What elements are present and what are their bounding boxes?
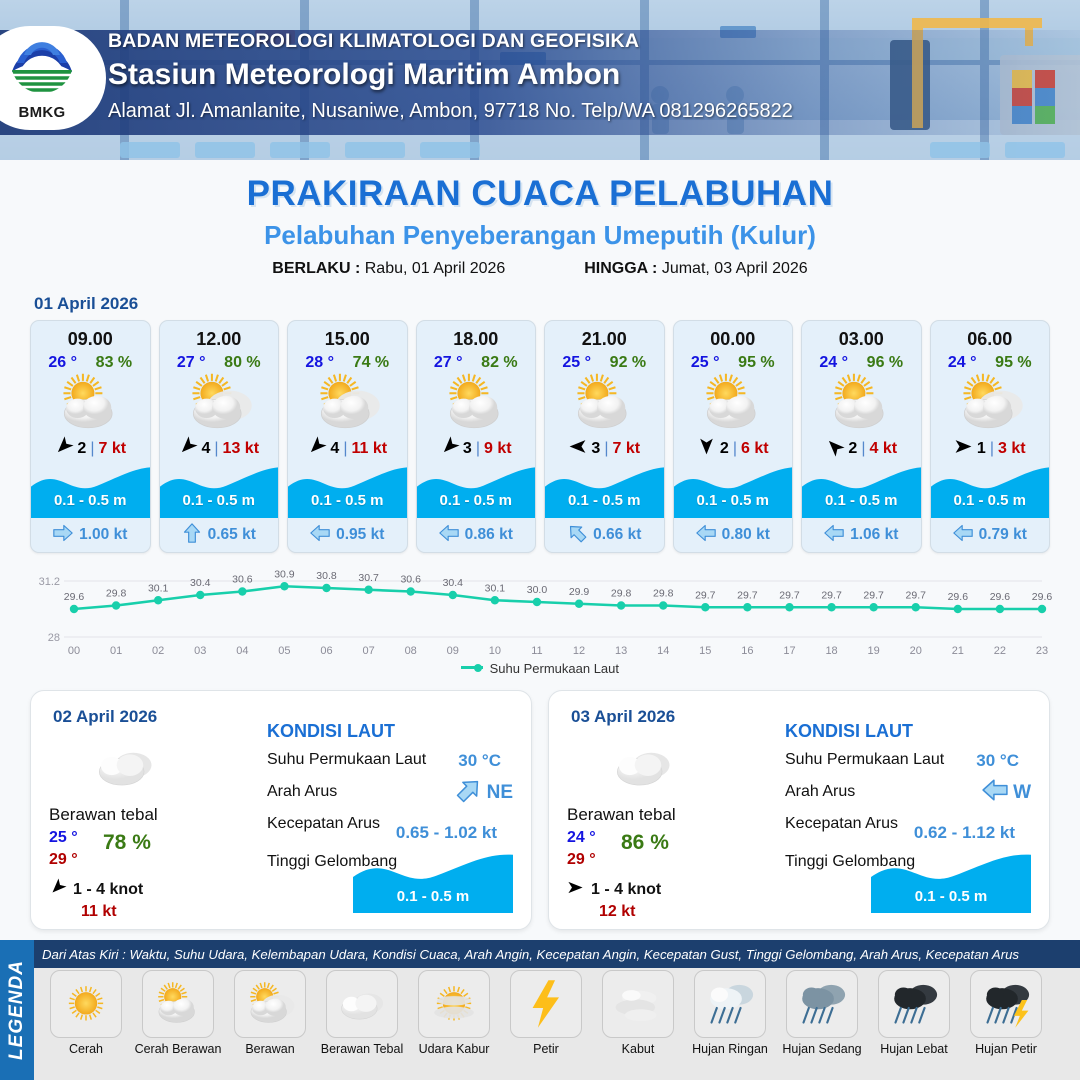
svg-text:11: 11: [531, 645, 542, 657]
legend-note: Dari Atas Kiri : Waktu, Suhu Udara, Kele…: [42, 944, 1074, 968]
card-wave-height: 0.1 - 0.5 m: [802, 492, 921, 509]
daily-date: 03 April 2026: [571, 707, 675, 727]
svg-text:29.7: 29.7: [737, 589, 758, 601]
hourly-card: 21.00 25 ° 92 % 3 | 7 kt 0.1 - 0.5 m: [544, 320, 665, 553]
hourly-forecast-row: 09.00 26 ° 83 % 2 | 7 kt 0.1 - 0.5 m: [0, 320, 1080, 553]
card-time: 15.00: [288, 321, 407, 350]
sea-sst-value: 30 °C: [458, 751, 501, 771]
svg-text:28: 28: [48, 632, 60, 644]
card-wave: 0.1 - 0.5 m: [417, 464, 536, 518]
sea-current-arrow-icon: [982, 777, 1008, 809]
card-wind-row: 3 | 7 kt: [545, 434, 664, 464]
valid-from-label: BERLAKU :: [272, 260, 360, 277]
card-wave-height: 0.1 - 0.5 m: [288, 492, 407, 509]
current-direction-arrow-icon: [182, 523, 202, 548]
legend-side-title: LEGENDA: [6, 960, 28, 1060]
legend-item: Hujan Petir: [962, 970, 1050, 1056]
daily-condition: Berawan tebal: [567, 805, 676, 825]
svg-text:06: 06: [320, 645, 332, 657]
legend-icon-hujan-sedang: [786, 970, 858, 1038]
card-current-speed: 0.80 kt: [722, 526, 770, 544]
card-wind-scale: 1: [977, 440, 986, 458]
wind-direction-arrow-icon: [697, 437, 716, 461]
valid-until-label: HINGGA :: [584, 260, 657, 277]
card-gust: 3 kt: [998, 440, 1026, 458]
card-wind-row: 3 | 9 kt: [417, 434, 536, 464]
card-temperature: 24 °: [948, 354, 977, 372]
card-time: 12.00: [160, 321, 279, 350]
card-wave: 0.1 - 0.5 m: [674, 464, 793, 518]
card-wave: 0.1 - 0.5 m: [802, 464, 921, 518]
card-wind-scale: 2: [720, 440, 729, 458]
chart-legend-label: Suhu Permukaan Laut: [490, 661, 619, 676]
card-current-row: 0.79 kt: [931, 518, 1050, 552]
card-wind-scale: 4: [330, 440, 339, 458]
legend-item: Berawan: [226, 970, 314, 1056]
daily-condition: Berawan tebal: [49, 805, 158, 825]
sst-chart: 31.22829.60029.80130.10230.40330.60430.9…: [0, 565, 1080, 676]
card-gust: 9 kt: [484, 440, 512, 458]
sea-wave-height: 0.1 - 0.5 m: [353, 888, 513, 905]
agency-name: BADAN METEOROLOGI KLIMATOLOGI DAN GEOFIS…: [108, 30, 793, 53]
svg-text:08: 08: [405, 645, 417, 657]
svg-text:30.8: 30.8: [316, 570, 337, 582]
svg-text:07: 07: [362, 645, 374, 657]
logo-green-base-icon: [11, 70, 73, 102]
svg-text:16: 16: [741, 645, 753, 657]
card-time: 18.00: [417, 321, 536, 350]
card-wind-separator: |: [861, 440, 865, 458]
card-wave-height: 0.1 - 0.5 m: [160, 492, 279, 509]
sea-current-speed-value: 0.65 - 1.02 kt: [396, 823, 497, 843]
svg-text:19: 19: [868, 645, 880, 657]
svg-text:15: 15: [699, 645, 711, 657]
svg-text:30.1: 30.1: [485, 582, 506, 594]
card-gust: 4 kt: [869, 440, 897, 458]
card-wind-row: 2 | 7 kt: [31, 434, 150, 464]
card-wave-height: 0.1 - 0.5 m: [545, 492, 664, 509]
card-temperature: 25 °: [691, 354, 720, 372]
svg-text:13: 13: [615, 645, 627, 657]
card-time: 09.00: [31, 321, 150, 350]
hourly-card: 12.00 27 ° 80 % 4 | 13 kt 0.1 - 0.5 m: [159, 320, 280, 553]
svg-text:29.7: 29.7: [779, 589, 800, 601]
valid-from-value: Rabu, 01 April 2026: [365, 260, 506, 277]
svg-text:17: 17: [783, 645, 795, 657]
wind-direction-arrow-icon: [54, 437, 73, 461]
legend-icon-hujan-petir: [970, 970, 1042, 1038]
legend-icon-kabut: [602, 970, 674, 1038]
legend-item-label: Petir: [502, 1042, 590, 1056]
sea-row-current-speed-label: Kecepatan Arus: [267, 815, 380, 833]
legend-icon-cerah: [50, 970, 122, 1038]
card-temperature: 28 °: [305, 354, 334, 372]
card-wind-row: 2 | 4 kt: [802, 434, 921, 464]
station-name: Stasiun Meteorologi Maritim Ambon: [108, 58, 793, 92]
svg-text:29.9: 29.9: [569, 586, 590, 598]
hourly-card: 00.00 25 ° 95 % 2 | 6 kt 0.1 - 0.5 m: [673, 320, 794, 553]
card-wind-separator: |: [476, 440, 480, 458]
chart-legend: Suhu Permukaan Laut: [28, 661, 1052, 676]
daily-forecast-card: 03 April 2026 Berawan tebal 24 ° 29 ° 86…: [548, 690, 1050, 930]
svg-text:22: 22: [994, 645, 1006, 657]
legend-item: Kabut: [594, 970, 682, 1056]
card-current-row: 1.00 kt: [31, 518, 150, 552]
card-weather-icon: [31, 372, 150, 434]
card-weather-icon: [288, 372, 407, 434]
card-wave: 0.1 - 0.5 m: [31, 464, 150, 518]
legend-item: Cerah: [42, 970, 130, 1056]
card-current-row: 0.65 kt: [160, 518, 279, 552]
wind-direction-arrow-icon: [307, 437, 326, 461]
card-current-speed: 1.00 kt: [79, 526, 127, 544]
svg-text:01: 01: [110, 645, 122, 657]
sst-chart-plot: 31.22829.60029.80130.10230.40330.60430.9…: [28, 565, 1052, 657]
svg-text:29.7: 29.7: [863, 589, 884, 601]
svg-text:29.8: 29.8: [653, 588, 674, 600]
daily-temp-max: 29 °: [567, 851, 596, 869]
legend-item: Cerah Berawan: [134, 970, 222, 1056]
legend-icon-hujan-ringan: [694, 970, 766, 1038]
card-wind-separator: |: [990, 440, 994, 458]
card-wind-row: 1 | 3 kt: [931, 434, 1050, 464]
card-current-row: 0.66 kt: [545, 518, 664, 552]
legend-item-label: Cerah: [42, 1042, 130, 1056]
sea-row-current-dir-label: Arah Arus: [267, 783, 337, 801]
card-humidity: 82 %: [481, 354, 517, 372]
legend-item: Udara Kabur: [410, 970, 498, 1056]
legend-item: Hujan Sedang: [778, 970, 866, 1056]
logo-text: BMKG: [5, 104, 79, 121]
page-subtitle: Pelabuhan Penyeberangan Umeputih (Kulur): [0, 220, 1080, 251]
card-weather-icon: [160, 372, 279, 434]
hourly-card: 18.00 27 ° 82 % 3 | 9 kt 0.1 - 0.5 m: [416, 320, 537, 553]
card-weather-icon: [674, 372, 793, 434]
svg-text:29.8: 29.8: [611, 588, 632, 600]
svg-text:12: 12: [573, 645, 585, 657]
legend-icon-berawan: [234, 970, 306, 1038]
legend-item: Hujan Lebat: [870, 970, 958, 1056]
hourly-card: 06.00 24 ° 95 % 1 | 3 kt 0.1 - 0.5 m: [930, 320, 1051, 553]
daily-wind-range: 1 - 4 knot: [73, 881, 143, 899]
legend-side-bar: LEGENDA: [0, 940, 34, 1080]
card-wind-scale: 2: [848, 440, 857, 458]
card-temperature: 26 °: [48, 354, 77, 372]
card-wind-separator: |: [214, 440, 218, 458]
card-current-row: 0.80 kt: [674, 518, 793, 552]
card-time: 21.00: [545, 321, 664, 350]
svg-text:29.7: 29.7: [906, 589, 927, 601]
svg-text:21: 21: [952, 645, 964, 657]
daily-weather-icon: [83, 737, 167, 800]
card-temperature: 27 °: [434, 354, 463, 372]
card-humidity: 80 %: [224, 354, 260, 372]
svg-text:29.6: 29.6: [1032, 591, 1052, 603]
daily-wind-row: 1 - 4 knot: [567, 879, 661, 901]
legend-item-label: Berawan Tebal: [318, 1042, 406, 1056]
page-header: BMKG BADAN METEOROLOGI KLIMATOLOGI DAN G…: [0, 0, 1080, 160]
svg-text:05: 05: [278, 645, 290, 657]
sea-current-direction-label: NE: [487, 782, 513, 804]
svg-text:30.4: 30.4: [443, 577, 464, 589]
card-weather-icon: [931, 372, 1050, 434]
daily-wind-range: 1 - 4 knot: [591, 881, 661, 899]
svg-text:20: 20: [910, 645, 922, 657]
hourly-card: 09.00 26 ° 83 % 2 | 7 kt 0.1 - 0.5 m: [30, 320, 151, 553]
legend-icon-cerah-berawan: [142, 970, 214, 1038]
card-current-row: 0.86 kt: [417, 518, 536, 552]
card-humidity: 83 %: [96, 354, 132, 372]
svg-text:10: 10: [489, 645, 501, 657]
card-wind-row: 4 | 11 kt: [288, 434, 407, 464]
svg-text:30.0: 30.0: [527, 584, 548, 596]
svg-text:00: 00: [68, 645, 80, 657]
svg-text:30.9: 30.9: [274, 568, 295, 580]
card-current-row: 0.95 kt: [288, 518, 407, 552]
daily-temp-max: 29 °: [49, 851, 78, 869]
card-gust: 13 kt: [223, 440, 259, 458]
card-current-speed: 0.65 kt: [208, 526, 256, 544]
card-wind-scale: 3: [591, 440, 600, 458]
legend-section: LEGENDA Dari Atas Kiri : Waktu, Suhu Uda…: [0, 940, 1080, 1080]
svg-text:29.8: 29.8: [106, 588, 127, 600]
svg-text:29.6: 29.6: [948, 591, 969, 603]
card-gust: 7 kt: [98, 440, 126, 458]
legend-item: Petir: [502, 970, 590, 1056]
legend-item-label: Hujan Petir: [962, 1042, 1050, 1056]
legend-item: Hujan Ringan: [686, 970, 774, 1056]
wind-direction-arrow-icon: [568, 437, 587, 461]
svg-text:30.4: 30.4: [190, 577, 211, 589]
station-address: Alamat Jl. Amanlanite, Nusaniwe, Ambon, …: [108, 100, 793, 123]
card-wave-height: 0.1 - 0.5 m: [674, 492, 793, 509]
sea-row-current-speed-label: Kecepatan Arus: [785, 815, 898, 833]
current-direction-arrow-icon: [953, 523, 973, 548]
svg-text:29.7: 29.7: [821, 589, 842, 601]
svg-text:04: 04: [236, 645, 248, 657]
card-wind-row: 4 | 13 kt: [160, 434, 279, 464]
daily-forecast-card: 02 April 2026 Berawan tebal 25 ° 29 ° 78…: [30, 690, 532, 930]
card-wind-separator: |: [733, 440, 737, 458]
current-direction-arrow-icon: [310, 523, 330, 548]
card-weather-icon: [802, 372, 921, 434]
sea-current-direction-label: W: [1013, 782, 1031, 804]
svg-text:14: 14: [657, 645, 669, 657]
card-wind-separator: |: [343, 440, 347, 458]
card-wind-separator: |: [90, 440, 94, 458]
svg-text:29.6: 29.6: [990, 591, 1011, 603]
legend-item-label: Hujan Ringan: [686, 1042, 774, 1056]
current-direction-arrow-icon: [567, 523, 587, 548]
card-wind-scale: 3: [463, 440, 472, 458]
card-gust: 7 kt: [612, 440, 640, 458]
svg-text:09: 09: [447, 645, 459, 657]
card-wave: 0.1 - 0.5 m: [288, 464, 407, 518]
legend-item-label: Hujan Sedang: [778, 1042, 866, 1056]
card-temperature: 24 °: [819, 354, 848, 372]
card-time: 03.00: [802, 321, 921, 350]
card-wave-height: 0.1 - 0.5 m: [417, 492, 536, 509]
bmkg-logo: BMKG: [0, 26, 106, 130]
svg-text:18: 18: [825, 645, 837, 657]
hourly-card: 03.00 24 ° 96 % 2 | 4 kt 0.1 - 0.5 m: [801, 320, 922, 553]
legend-item-label: Kabut: [594, 1042, 682, 1056]
hourly-card: 15.00 28 ° 74 % 4 | 11 kt 0.1 - 0.5 m: [287, 320, 408, 553]
sea-condition-title: KONDISI LAUT: [267, 721, 395, 742]
card-wave-height: 0.1 - 0.5 m: [31, 492, 150, 509]
svg-text:02: 02: [152, 645, 164, 657]
hourly-date-label: 01 April 2026: [34, 294, 1080, 314]
card-current-speed: 0.79 kt: [979, 526, 1027, 544]
card-weather-icon: [545, 372, 664, 434]
legend-items: Cerah Cerah Berawan Berawan: [42, 970, 1076, 1056]
card-wind-separator: |: [604, 440, 608, 458]
legend-item-label: Hujan Lebat: [870, 1042, 958, 1056]
legend-icon-berawan-tebal: [326, 970, 398, 1038]
card-current-row: 1.06 kt: [802, 518, 921, 552]
card-current-speed: 1.06 kt: [850, 526, 898, 544]
card-time: 06.00: [931, 321, 1050, 350]
card-wave: 0.1 - 0.5 m: [160, 464, 279, 518]
card-weather-icon: [417, 372, 536, 434]
daily-wind-row: 1 - 4 knot: [49, 879, 143, 901]
legend-icon-petir: [510, 970, 582, 1038]
svg-text:31.2: 31.2: [39, 576, 60, 588]
title-block: PRAKIRAAN CUACA PELABUHAN Pelabuhan Peny…: [0, 160, 1080, 278]
sea-wave: 0.1 - 0.5 m: [353, 851, 513, 913]
daily-wind-arrow-icon: [567, 879, 584, 901]
card-wave: 0.1 - 0.5 m: [931, 464, 1050, 518]
card-wind-row: 2 | 6 kt: [674, 434, 793, 464]
current-direction-arrow-icon: [439, 523, 459, 548]
daily-humidity: 78 %: [103, 831, 151, 855]
validity-row: BERLAKU : Rabu, 01 April 2026 HINGGA : J…: [0, 260, 1080, 278]
legend-icon-udara-kabur: [418, 970, 490, 1038]
sea-current-arrow-icon: [456, 777, 482, 809]
svg-text:30.6: 30.6: [232, 574, 253, 586]
svg-text:30.6: 30.6: [400, 574, 421, 586]
current-direction-arrow-icon: [696, 523, 716, 548]
card-gust: 11 kt: [351, 440, 387, 458]
sea-row-sst-label: Suhu Permukaan Laut: [785, 751, 944, 769]
valid-until-value: Jumat, 03 April 2026: [662, 260, 808, 277]
card-wave-height: 0.1 - 0.5 m: [931, 492, 1050, 509]
card-humidity: 74 %: [353, 354, 389, 372]
current-direction-arrow-icon: [824, 523, 844, 548]
wind-direction-arrow-icon: [440, 437, 459, 461]
card-humidity: 92 %: [610, 354, 646, 372]
wind-direction-arrow-icon: [825, 437, 844, 461]
svg-text:30.1: 30.1: [148, 582, 169, 594]
legend-item-label: Udara Kabur: [410, 1042, 498, 1056]
legend-item-label: Cerah Berawan: [134, 1042, 222, 1056]
svg-text:29.6: 29.6: [64, 591, 85, 603]
sea-current-direction: W: [982, 777, 1031, 809]
card-humidity: 96 %: [867, 354, 903, 372]
sea-wave-height: 0.1 - 0.5 m: [871, 888, 1031, 905]
svg-text:23: 23: [1036, 645, 1048, 657]
card-wave: 0.1 - 0.5 m: [545, 464, 664, 518]
sea-current-direction: NE: [456, 777, 513, 809]
logo-blue-arc-icon: [11, 38, 73, 74]
daily-gust: 11 kt: [81, 903, 117, 921]
card-wind-scale: 2: [77, 440, 86, 458]
card-temperature: 25 °: [562, 354, 591, 372]
current-direction-arrow-icon: [53, 523, 73, 548]
header-text-block: BADAN METEOROLOGI KLIMATOLOGI DAN GEOFIS…: [108, 30, 793, 123]
svg-text:03: 03: [194, 645, 206, 657]
daily-weather-icon: [601, 737, 685, 800]
legend-icon-hujan-lebat: [878, 970, 950, 1038]
svg-text:30.7: 30.7: [358, 572, 379, 584]
sea-condition-title: KONDISI LAUT: [785, 721, 913, 742]
card-gust: 6 kt: [741, 440, 769, 458]
page-title: PRAKIRAAN CUACA PELABUHAN: [0, 174, 1080, 214]
card-humidity: 95 %: [995, 354, 1031, 372]
wind-direction-arrow-icon: [178, 437, 197, 461]
daily-forecast-row: 02 April 2026 Berawan tebal 25 ° 29 ° 78…: [0, 676, 1080, 930]
chart-legend-dot-icon: [474, 664, 482, 672]
card-current-speed: 0.66 kt: [593, 526, 641, 544]
svg-text:29.7: 29.7: [695, 589, 716, 601]
card-current-speed: 0.86 kt: [465, 526, 513, 544]
daily-date: 02 April 2026: [53, 707, 157, 727]
legend-item: Berawan Tebal: [318, 970, 406, 1056]
card-temperature: 27 °: [177, 354, 206, 372]
daily-humidity: 86 %: [621, 831, 669, 855]
daily-wind-arrow-icon: [49, 879, 66, 901]
card-humidity: 95 %: [738, 354, 774, 372]
daily-temp-min: 24 °: [567, 829, 596, 847]
daily-temp-min: 25 °: [49, 829, 78, 847]
sea-wave: 0.1 - 0.5 m: [871, 851, 1031, 913]
sea-row-current-dir-label: Arah Arus: [785, 783, 855, 801]
wind-direction-arrow-icon: [954, 437, 973, 461]
legend-item-label: Berawan: [226, 1042, 314, 1056]
sea-row-sst-label: Suhu Permukaan Laut: [267, 751, 426, 769]
daily-gust: 12 kt: [599, 903, 635, 921]
card-time: 00.00: [674, 321, 793, 350]
card-wind-scale: 4: [201, 440, 210, 458]
sea-sst-value: 30 °C: [976, 751, 1019, 771]
card-current-speed: 0.95 kt: [336, 526, 384, 544]
sea-current-speed-value: 0.62 - 1.12 kt: [914, 823, 1015, 843]
